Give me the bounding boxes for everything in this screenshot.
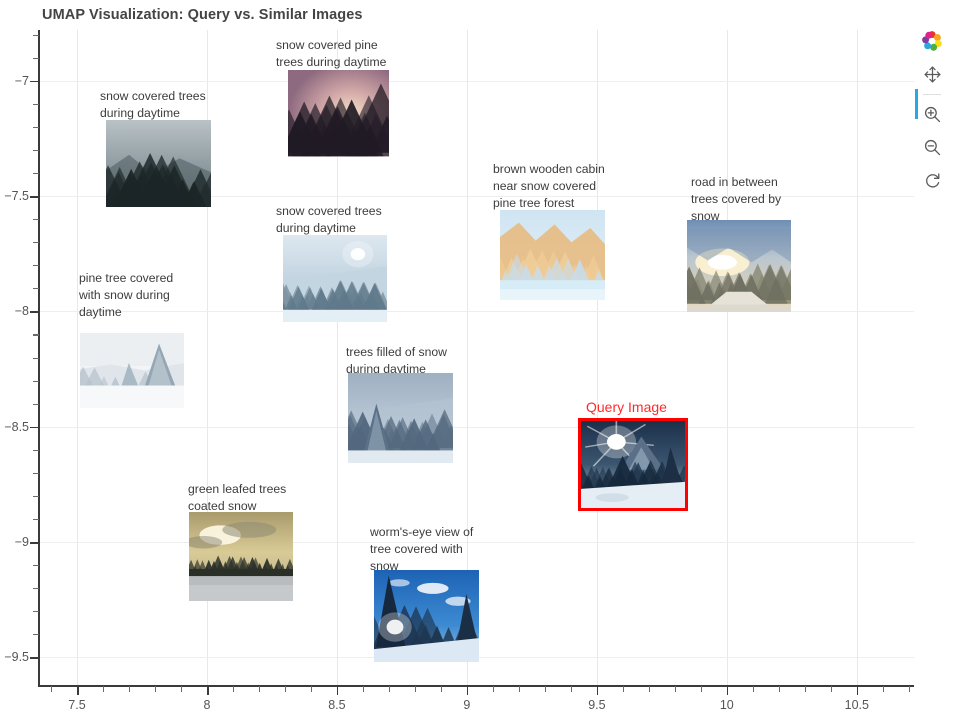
x-axis-minor-tick (883, 686, 884, 692)
toolbar-divider (923, 94, 941, 95)
bokeh-logo-icon[interactable] (917, 26, 947, 56)
x-axis-minor-tick (181, 686, 182, 692)
x-axis-minor-tick (675, 686, 676, 692)
image-thumbnail[interactable] (189, 512, 293, 601)
image-thumbnail[interactable] (500, 210, 605, 300)
x-axis-tick (857, 686, 859, 695)
y-axis-minor-tick (33, 473, 39, 474)
x-axis-minor-tick (129, 686, 130, 692)
x-axis-minor-tick (415, 686, 416, 692)
y-axis-label: −8.5 (0, 420, 29, 434)
y-axis-tick (30, 311, 39, 313)
x-axis-minor-tick (389, 686, 390, 692)
y-axis-label: −7.5 (0, 189, 29, 203)
bokeh-toolbar[interactable] (915, 26, 949, 198)
y-axis-label: −7 (0, 74, 29, 88)
x-axis-tick (727, 686, 729, 695)
y-axis-minor-tick (33, 150, 39, 151)
x-axis-tick (337, 686, 339, 695)
grid-line-vertical (727, 30, 728, 685)
x-axis-minor-tick (51, 686, 52, 692)
y-axis-minor-tick (33, 588, 39, 589)
y-axis-minor-tick (33, 58, 39, 59)
y-axis-minor-tick (33, 265, 39, 266)
image-caption: brown wooden cabin near snow covered pin… (493, 161, 605, 212)
y-axis-minor-tick (33, 634, 39, 635)
y-axis-minor-tick (33, 381, 39, 382)
y-axis-minor-tick (33, 173, 39, 174)
x-axis-minor-tick (649, 686, 650, 692)
y-axis-label: −8 (0, 304, 29, 318)
x-axis-minor-tick (701, 686, 702, 692)
y-axis-label: −9.5 (0, 650, 29, 664)
x-axis-label: 9.5 (588, 698, 605, 712)
y-axis-tick (30, 81, 39, 83)
grid-line-horizontal (38, 81, 914, 82)
x-axis-minor-tick (779, 686, 780, 692)
y-axis-minor-tick (33, 288, 39, 289)
image-caption: pine tree covered with snow during dayti… (79, 270, 173, 321)
image-caption: road in between trees covered by snow (691, 174, 781, 225)
image-thumbnail[interactable] (283, 235, 387, 322)
y-axis-label: −9 (0, 535, 29, 549)
y-axis-tick (30, 657, 39, 659)
x-axis-minor-tick (441, 686, 442, 692)
x-axis-minor-tick (519, 686, 520, 692)
y-axis-minor-tick (33, 35, 39, 36)
y-axis-minor-tick (33, 496, 39, 497)
x-axis-minor-tick (545, 686, 546, 692)
image-caption: green leafed trees coated snow (188, 481, 286, 515)
y-axis-minor-tick (33, 358, 39, 359)
x-axis-minor-tick (623, 686, 624, 692)
y-axis-minor-tick (33, 219, 39, 220)
image-caption: worm's-eye view of tree covered with sno… (370, 524, 473, 575)
y-axis-minor-tick (33, 404, 39, 405)
y-axis-minor-tick (33, 565, 39, 566)
x-axis-label: 9 (463, 698, 470, 712)
x-axis-tick (77, 686, 79, 695)
zoom-in-tool[interactable] (917, 99, 947, 129)
grid-line-horizontal (38, 427, 914, 428)
x-axis-minor-tick (493, 686, 494, 692)
grid-line-vertical (77, 30, 78, 685)
y-axis-tick (30, 427, 39, 429)
grid-line-vertical (857, 30, 858, 685)
x-axis-minor-tick (285, 686, 286, 692)
x-axis-minor-tick (363, 686, 364, 692)
x-axis-minor-tick (233, 686, 234, 692)
image-thumbnail[interactable] (374, 570, 479, 662)
image-thumbnail[interactable] (687, 220, 791, 312)
x-axis-minor-tick (103, 686, 104, 692)
image-thumbnail[interactable] (578, 418, 688, 511)
zoom-out-tool[interactable] (917, 132, 947, 162)
x-axis-label: 7.5 (68, 698, 85, 712)
x-axis-tick (207, 686, 209, 695)
x-axis-label: 10 (720, 698, 734, 712)
x-axis-minor-tick (571, 686, 572, 692)
image-caption: snow covered trees during daytime (276, 203, 382, 237)
y-axis-minor-tick (33, 334, 39, 335)
image-caption: snow covered trees during daytime (100, 88, 206, 122)
y-axis-minor-tick (33, 450, 39, 451)
x-axis-tick (467, 686, 469, 695)
y-axis-minor-tick (33, 127, 39, 128)
x-axis-line (38, 685, 914, 687)
x-axis-minor-tick (753, 686, 754, 692)
plot-area[interactable]: snow covered trees during daytime snow c… (38, 30, 914, 685)
image-caption: snow covered pine trees during daytime (276, 37, 386, 71)
x-axis-minor-tick (259, 686, 260, 692)
y-axis-minor-tick (33, 104, 39, 105)
reset-tool[interactable] (917, 165, 947, 195)
x-axis-minor-tick (155, 686, 156, 692)
grid-line-vertical (597, 30, 598, 685)
y-axis-minor-tick (33, 519, 39, 520)
image-thumbnail[interactable] (288, 70, 389, 157)
x-axis-minor-tick (805, 686, 806, 692)
y-axis-tick (30, 542, 39, 544)
x-axis-label: 10.5 (845, 698, 869, 712)
x-axis-minor-tick (909, 686, 910, 692)
query-image-label: Query Image (586, 399, 667, 415)
y-axis-minor-tick (33, 611, 39, 612)
image-thumbnail[interactable] (106, 120, 211, 207)
page-title: UMAP Visualization: Query vs. Similar Im… (42, 7, 363, 23)
umap-plot-app: UMAP Visualization: Query vs. Similar Im… (0, 0, 953, 713)
image-thumbnail[interactable] (80, 333, 184, 408)
y-axis-tick (30, 196, 39, 198)
x-axis-tick (597, 686, 599, 695)
grid-line-horizontal (38, 542, 914, 543)
x-axis-minor-tick (311, 686, 312, 692)
active-tool-indicator (915, 89, 918, 119)
x-axis-label: 8.5 (328, 698, 345, 712)
pan-tool[interactable] (917, 59, 947, 89)
image-thumbnail[interactable] (348, 373, 453, 463)
y-axis-minor-tick (33, 242, 39, 243)
x-axis-label: 8 (204, 698, 211, 712)
x-axis-minor-tick (831, 686, 832, 692)
